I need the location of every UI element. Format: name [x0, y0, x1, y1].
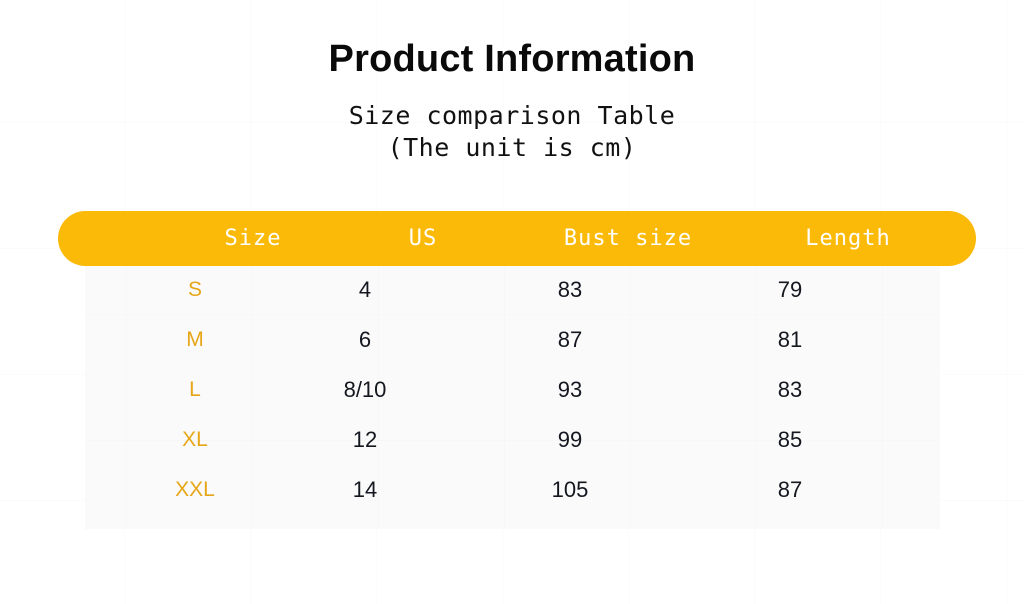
- subtitle-line-unit-note: (The unit is cm): [0, 132, 1024, 165]
- cell-size: XL: [115, 415, 275, 465]
- cell-bust: 83: [470, 265, 670, 315]
- cell-length: 85: [700, 415, 880, 465]
- table-header-row: Size US Bust size Length: [58, 211, 976, 266]
- table-header-size: Size: [173, 228, 333, 250]
- page-title: Product Information: [0, 0, 1024, 82]
- subtitle-line-primary: Size comparison Table: [0, 100, 1024, 133]
- table-row: M 6 87 81: [0, 315, 1024, 365]
- cell-bust: 99: [470, 415, 670, 465]
- cell-length: 87: [700, 465, 880, 515]
- cell-us: 8/10: [285, 365, 445, 415]
- table-row: XXL 14 105 87: [0, 465, 1024, 515]
- table-header-us: US: [343, 228, 503, 250]
- table-rows: S 4 83 79 M 6 87 81 L 8/10 93 83 XL 12 9…: [0, 265, 1024, 515]
- cell-length: 83: [700, 365, 880, 415]
- cell-bust: 105: [470, 465, 670, 515]
- cell-length: 79: [700, 265, 880, 315]
- cell-bust: 93: [470, 365, 670, 415]
- cell-length: 81: [700, 315, 880, 365]
- table-row: XL 12 99 85: [0, 415, 1024, 465]
- cell-us: 6: [285, 315, 445, 365]
- product-information-page: Product Information Size comparison Tabl…: [0, 0, 1024, 604]
- cell-size: XXL: [115, 465, 275, 515]
- size-comparison-table: Size US Bust size Length S 4 83 79 M 6 8…: [0, 211, 1024, 541]
- cell-us: 4: [285, 265, 445, 315]
- table-header-bust-size: Bust size: [528, 228, 728, 250]
- heading-block: Product Information Size comparison Tabl…: [0, 0, 1024, 165]
- cell-us: 12: [285, 415, 445, 465]
- cell-size: S: [115, 265, 275, 315]
- table-header-length: Length: [758, 228, 938, 250]
- cell-us: 14: [285, 465, 445, 515]
- table-row: L 8/10 93 83: [0, 365, 1024, 415]
- cell-size: L: [115, 365, 275, 415]
- size-table-subtitle: Size comparison Table (The unit is cm): [0, 82, 1024, 165]
- cell-bust: 87: [470, 315, 670, 365]
- cell-size: M: [115, 315, 275, 365]
- table-row: S 4 83 79: [0, 265, 1024, 315]
